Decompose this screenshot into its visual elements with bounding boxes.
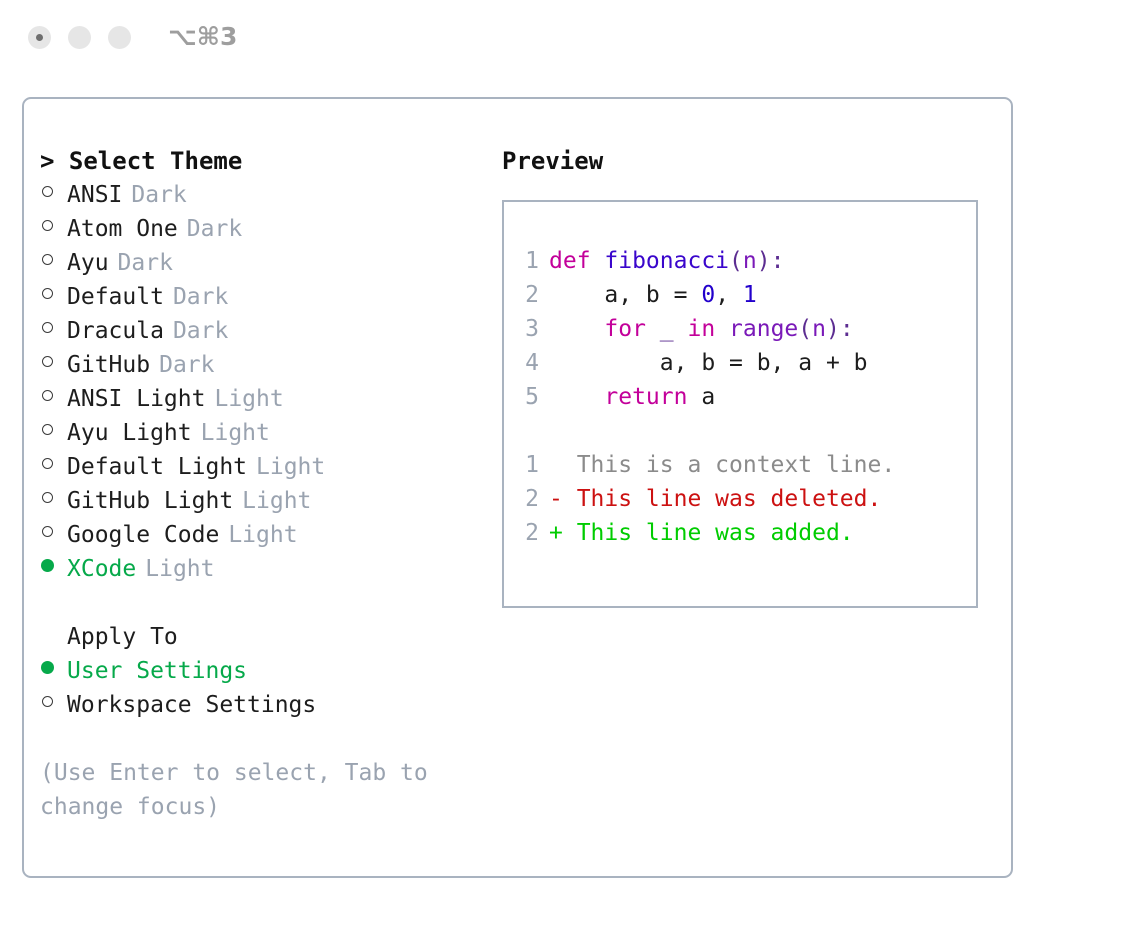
line-number: 1 [515,448,539,482]
code-token [549,384,604,410]
option-label: GitHub [67,348,150,382]
diff-text: + This line was added. [549,520,854,546]
option-kind-badge: Dark [159,348,214,382]
code-line: 3 for _ in range(n): [515,312,895,346]
radio-hollow-icon [42,254,53,265]
window-controls[interactable] [28,26,131,49]
option-row[interactable]: GitHub LightLight [40,484,490,518]
theme-option-list[interactable]: ANSIDarkAtom OneDarkAyuDarkDefaultDarkDr… [40,178,490,586]
option-row[interactable]: ANSI LightLight [40,382,490,416]
option-label: GitHub Light [67,484,233,518]
code-line: 5 return a [515,380,895,414]
option-kind-badge: Light [145,552,214,586]
code-token: a [687,384,715,410]
line-number: 3 [515,312,539,346]
option-row[interactable]: Atom OneDark [40,212,490,246]
option-kind-badge: Light [242,484,311,518]
option-kind-badge: Light [256,450,325,484]
close-icon[interactable] [28,26,51,49]
line-number: 5 [515,380,539,414]
code-token: n [743,248,757,274]
code-line: 1def fibonacci(n): [515,244,895,278]
radio-hollow-icon [42,492,53,503]
code-token [715,316,729,342]
option-label: Atom One [67,212,178,246]
option-row[interactable]: DefaultDark [40,280,490,314]
line-number: 2 [515,482,539,516]
radio-hollow-icon [42,322,53,333]
code-token: 0 [701,282,715,308]
code-token: n [812,316,826,342]
option-kind-badge: Light [214,382,283,416]
preview-title: Preview [502,144,992,178]
option-kind-badge: Light [201,416,270,450]
code-token: return [604,384,687,410]
radio-hollow-icon [42,220,53,231]
option-label: Ayu Light [67,416,192,450]
line-number: 4 [515,346,539,380]
option-row[interactable]: GitHubDark [40,348,490,382]
option-row[interactable]: Default LightLight [40,450,490,484]
panel-columns: > Select Theme ANSIDarkAtom OneDarkAyuDa… [24,99,1011,876]
minimize-icon[interactable] [68,26,91,49]
code-token: ): [757,248,785,274]
line-number: 1 [515,244,539,278]
option-label: ANSI Light [67,382,205,416]
apply-to-option-list[interactable]: User SettingsWorkspace Settings [40,654,490,722]
code-token: ( [798,316,812,342]
option-label: Dracula [67,314,164,348]
radio-hollow-icon [42,696,53,707]
line-number: 2 [515,516,539,550]
diff-line: 2+ This line was added. [515,516,895,550]
option-kind-badge: Dark [173,280,228,314]
title-bar: ⌥⌘3 [0,0,1140,78]
radio-hollow-icon [42,458,53,469]
maximize-icon[interactable] [108,26,131,49]
code-token: range [729,316,798,342]
code-token: , [715,282,743,308]
option-kind-badge: Dark [118,246,173,280]
code-token: ): [826,316,854,342]
option-kind-badge: Light [228,518,297,552]
option-label: Default [67,280,164,314]
code-line: 4 a, b = b, a + b [515,346,895,380]
main-panel: > Select Theme ANSIDarkAtom OneDarkAyuDa… [22,97,1013,878]
theme-picker-column: > Select Theme ANSIDarkAtom OneDarkAyuDa… [40,144,490,824]
code-token [549,316,604,342]
code-token: _ [646,316,688,342]
active-indicator-dot [36,34,43,41]
option-row[interactable]: Google CodeLight [40,518,490,552]
option-kind-badge: Dark [173,314,228,348]
option-row[interactable]: Workspace Settings [40,688,490,722]
radio-filled-icon [41,559,54,572]
diff-text: - This line was deleted. [549,486,881,512]
option-row[interactable]: Ayu LightLight [40,416,490,450]
option-kind-badge: Dark [187,212,242,246]
diff-line: 1 This is a context line. [515,448,895,482]
app-window: ⌥⌘3 > Select Theme ANSIDarkAtom OneDarkA… [0,0,1140,934]
radio-hollow-icon [42,526,53,537]
code-token: fibonacci [604,248,729,274]
line-number: 2 [515,278,539,312]
radio-hollow-icon [42,356,53,367]
code-token: 1 [743,282,757,308]
option-label: ANSI [67,178,122,212]
radio-hollow-icon [42,424,53,435]
radio-hollow-icon [42,186,53,197]
diff-text: This is a context line. [549,452,895,478]
code-token: for [604,316,646,342]
option-kind-badge: Dark [131,178,186,212]
code-line: 2 a, b = 0, 1 [515,278,895,312]
keyboard-hint: (Use Enter to select, Tab to change focu… [40,756,440,824]
option-row[interactable]: XCodeLight [40,552,490,586]
preview-box: 1def fibonacci(n):2 a, b = 0, 13 for _ i… [502,200,978,608]
option-row[interactable]: User Settings [40,654,490,688]
apply-to-heading: Apply To [40,620,490,654]
code-diff-spacer [515,414,895,448]
diff-line: 2- This line was deleted. [515,482,895,516]
page-title: > Select Theme [40,144,490,178]
option-label: Ayu [67,246,109,280]
radio-hollow-icon [42,288,53,299]
code-sample: 1def fibonacci(n):2 a, b = 0, 13 for _ i… [515,244,895,550]
code-token: ( [729,248,743,274]
keyboard-shortcut-label: ⌥⌘3 [168,22,237,51]
section-spacer [40,586,490,620]
radio-hollow-icon [42,390,53,401]
code-token: a, b = b, a + b [549,350,868,376]
option-label: Workspace Settings [67,688,316,722]
option-label: Google Code [67,518,219,552]
option-row[interactable]: AyuDark [40,246,490,280]
option-label: Default Light [67,450,247,484]
code-token: def [549,248,604,274]
radio-filled-icon [41,661,54,674]
option-row[interactable]: DraculaDark [40,314,490,348]
code-token: in [687,316,715,342]
option-label: User Settings [67,654,247,688]
option-row[interactable]: ANSIDark [40,178,490,212]
code-token: a, b = [549,282,701,308]
option-label: XCode [67,552,136,586]
preview-column: Preview 1def fibonacci(n):2 a, b = 0, 13… [502,144,992,608]
